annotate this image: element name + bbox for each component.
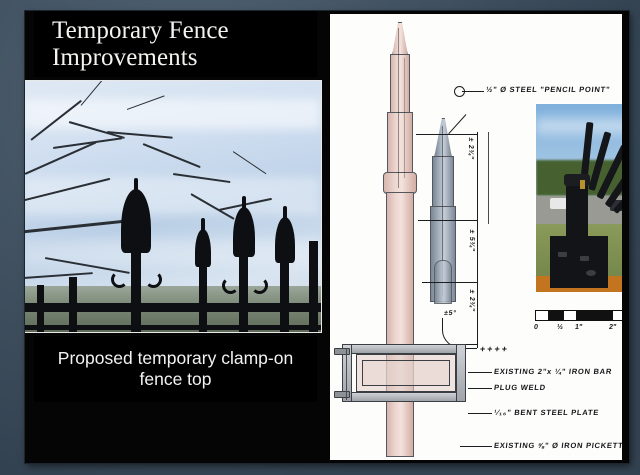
dim-upper: ± 2¾" <box>467 137 474 160</box>
dim-extension-line <box>418 220 478 221</box>
dim-line <box>488 132 489 224</box>
scale-segment <box>563 310 577 321</box>
clamp-right-plate <box>456 344 466 402</box>
scale-tick-half: ½ <box>556 322 563 331</box>
clamp-collar <box>564 174 590 186</box>
clamp-bottom-bar <box>342 392 466 402</box>
leader-line <box>448 114 466 134</box>
angle-note: ±5° <box>444 310 458 317</box>
pencil-point-shaft <box>432 156 454 208</box>
fence-picket <box>69 277 77 333</box>
picket-centerline <box>398 28 399 188</box>
leader-line <box>462 91 484 92</box>
base-slot <box>558 252 567 257</box>
dim-line <box>477 132 478 348</box>
bolt-head <box>580 180 585 189</box>
picket-taper <box>390 54 410 114</box>
clamp-bolt <box>334 391 350 398</box>
fence-picket <box>239 251 248 333</box>
fence-picket <box>309 241 318 333</box>
fence-picket <box>37 285 44 333</box>
cloud <box>536 118 622 134</box>
bolt-shank <box>346 348 347 400</box>
clamp-top-bar <box>342 344 466 354</box>
fence-picket <box>131 247 141 333</box>
dim-extension-line <box>422 282 478 283</box>
caption-text: Proposed temporary clamp-on fence top <box>34 348 317 391</box>
picket-lower-shaft <box>386 192 414 457</box>
clamp-iron-bar <box>362 360 450 386</box>
callout-bent-steel-plate: ¹⁄₁₆" BENT STEEL PLATE <box>493 408 599 417</box>
base-hole <box>586 270 596 276</box>
slide-frame: Temporary Fence Improvements <box>0 0 640 475</box>
base-slot <box>580 256 589 261</box>
picket-collar <box>383 172 417 194</box>
clamp-bolt <box>334 348 350 355</box>
cloud-band <box>25 99 321 129</box>
scale-tick-1: 1" <box>574 322 583 331</box>
ornamental-fence-photo <box>25 80 322 333</box>
fence-scroll <box>145 271 162 288</box>
installed-prototype-photo <box>535 103 622 293</box>
title-block: Temporary Fence Improvements <box>34 11 317 77</box>
fence-scroll <box>222 277 239 294</box>
fence-scroll <box>111 271 128 288</box>
pencil-point-tip <box>434 118 452 158</box>
callout-plug-weld: PLUG WELD <box>493 383 546 392</box>
cloud-band <box>25 177 321 215</box>
scale-segment <box>549 310 563 321</box>
picket-centerline <box>404 58 405 178</box>
presentation-slide: Temporary Fence Improvements <box>25 11 629 463</box>
fence-picket <box>199 263 207 333</box>
picket-shaft <box>387 112 413 174</box>
scale-tick-2: 2" <box>608 322 617 331</box>
scale-tick-0: 0 <box>533 322 538 331</box>
dim-middle: ± 5¾" <box>468 229 475 252</box>
callout-leader <box>460 446 492 447</box>
dim-lower: ± 2¾" <box>468 289 475 312</box>
scale-segment <box>612 310 622 321</box>
callout-leader <box>468 388 492 389</box>
page-title: Temporary Fence Improvements <box>34 17 317 71</box>
caption-block: Proposed temporary clamp-on fence top <box>34 336 317 402</box>
weld-hatch-marks: ++++ <box>479 344 509 354</box>
picket-tip <box>392 22 408 56</box>
drawing-sheet: ½" Ø STEEL "PENCIL POINT" ± 2¾" ± 5¾" ± … <box>330 14 622 460</box>
callout-leader <box>468 372 492 373</box>
scale-segment <box>535 310 549 321</box>
fence-picket <box>280 259 289 333</box>
annotation-pencil-point: ½" Ø STEEL "PENCIL POINT" <box>485 85 610 94</box>
callout-iron-bar: EXISTING 2"x ¼" IRON BAR <box>493 367 612 376</box>
scale-segment <box>577 310 612 321</box>
steel-base-plate <box>550 236 608 288</box>
fence-scroll <box>251 277 268 294</box>
callout-leader <box>468 413 492 414</box>
callout-iron-pickett: EXISTING ⅝" Ø IRON PICKETT <box>493 441 622 450</box>
dim-extension-line <box>416 134 478 135</box>
